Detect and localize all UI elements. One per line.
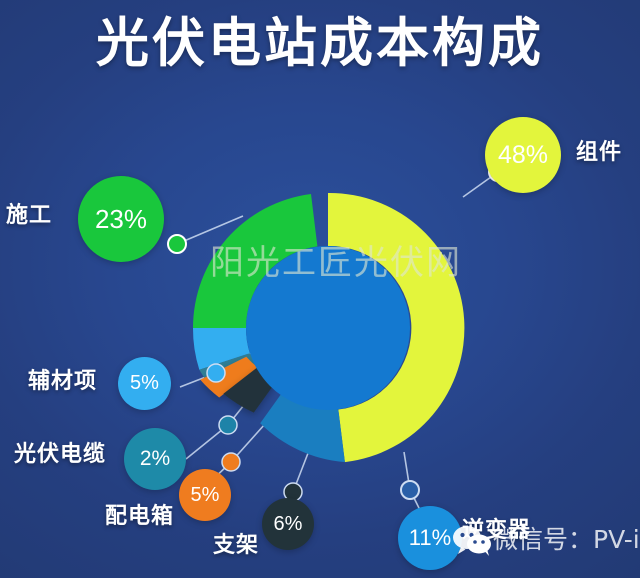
value-bubble-pv-cable[interactable]: 2% (124, 428, 186, 490)
value-bubble-construction-text: 23% (95, 204, 147, 235)
infographic-canvas: 光伏电站成本构成 (0, 0, 640, 578)
value-bubble-distribution-box-text: 5% (191, 484, 220, 507)
value-bubble-modules[interactable]: 48% (485, 117, 561, 193)
value-bubble-bracket[interactable]: 6% (262, 498, 314, 550)
cost-breakdown-donut-chart (0, 0, 640, 578)
connector-node-distribution-box[interactable] (222, 453, 240, 471)
category-label-pv-cable: 光伏电缆 (14, 443, 106, 467)
value-bubble-pv-cable-text: 2% (140, 447, 170, 471)
value-bubble-modules-text: 48% (498, 141, 548, 170)
value-bubble-aux-material[interactable]: 5% (118, 357, 171, 410)
value-bubble-aux-material-text: 5% (130, 372, 159, 395)
category-label-aux-material: 辅材项 (28, 370, 97, 394)
value-bubble-construction[interactable]: 23% (78, 176, 164, 262)
category-label-bracket: 支架 (213, 534, 259, 558)
category-label-inverter: 逆变器 (462, 519, 531, 543)
value-bubble-bracket-text: 6% (274, 513, 303, 536)
donut-center-disc (246, 246, 410, 410)
category-label-modules: 组件 (576, 141, 622, 165)
value-bubble-distribution-box[interactable]: 5% (179, 469, 231, 521)
value-bubble-inverter-text: 11% (409, 525, 451, 551)
connector-node-pv-cable[interactable] (219, 416, 237, 434)
category-label-construction: 施工 (6, 204, 52, 228)
value-bubble-inverter[interactable]: 11% (398, 506, 462, 570)
connector-node-inverter[interactable] (401, 481, 419, 499)
category-label-distribution-box: 配电箱 (105, 505, 174, 529)
connector-node-construction[interactable] (168, 235, 186, 253)
connector-node-aux-material[interactable] (207, 364, 225, 382)
